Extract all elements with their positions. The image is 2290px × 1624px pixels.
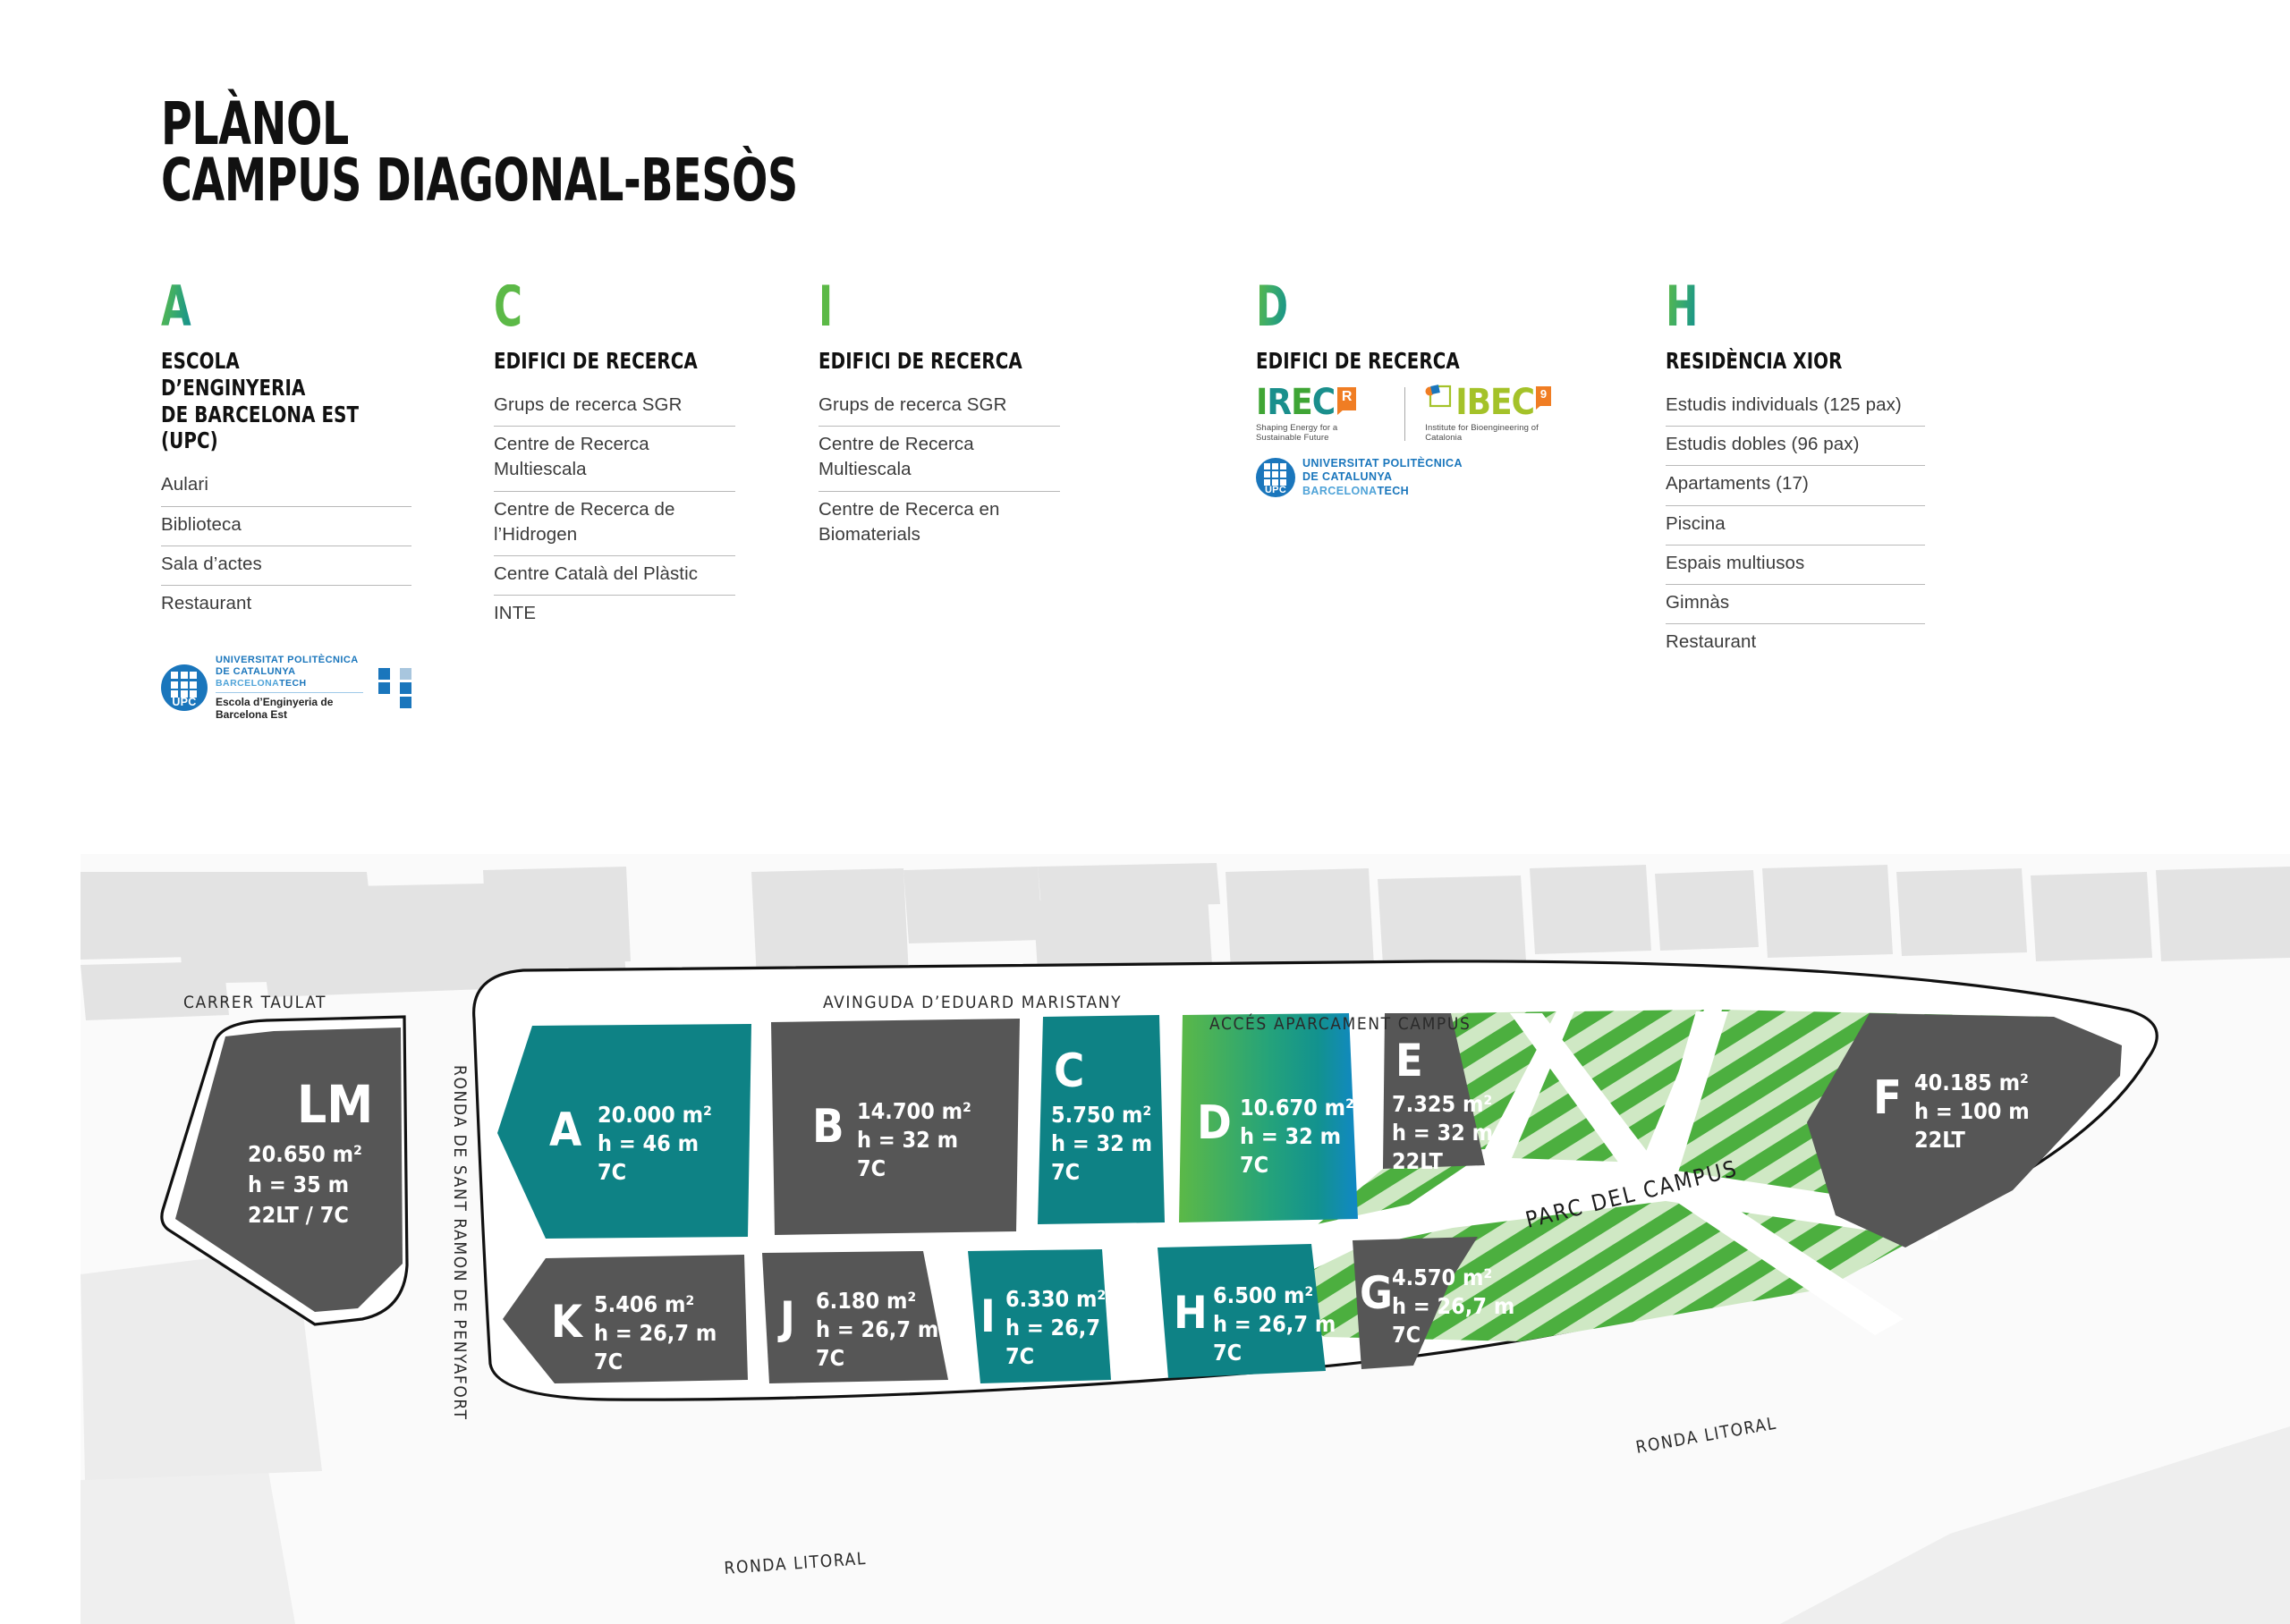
list-item: Grups de recerca SGR <box>494 387 735 427</box>
logo-divider <box>1404 387 1405 441</box>
legend-column-d: D EDIFICI DE RECERCA IREC R Shaping Ener… <box>1256 284 1551 499</box>
block-LM-letter: LM <box>297 1074 373 1135</box>
ibec-tagline: Institute for Bioengineering of Cataloni… <box>1425 423 1551 443</box>
block-F-code: 22LT <box>1914 1127 1965 1153</box>
block-B-code: 7C <box>857 1155 886 1181</box>
list-item: INTE <box>494 596 735 634</box>
block-J-height: h = 26,7 m <box>816 1316 938 1342</box>
ibec-name: IBEC <box>1455 385 1534 419</box>
block-K-area: 5.406 m² <box>594 1291 694 1317</box>
block-H-height: h = 26,7 m <box>1213 1311 1336 1337</box>
irec-badge-icon: R <box>1337 387 1356 410</box>
upc-roundel-icon: UPC <box>1256 458 1295 497</box>
upc-wordmark: UNIVERSITAT POLITÈCNICA DE CATALUNYA BAR… <box>1302 457 1463 499</box>
list-item: Centre de Recerca Multiescala <box>818 427 1060 492</box>
block-LM-area: 20.650 m² <box>248 1141 362 1167</box>
block-I-area: 6.330 m² <box>1005 1286 1106 1312</box>
legend-title-h: RESIDÈNCIA XIOR <box>1666 348 1899 375</box>
irec-name: IREC <box>1256 385 1335 419</box>
street-label-avinguda-maristany: AVINGUDA D’EDUARD MARISTANY <box>823 993 1122 1012</box>
irec-logo: IREC R Shaping Energy for a Sustainable … <box>1256 385 1404 443</box>
block-J-area: 6.180 m² <box>816 1288 916 1314</box>
list-item: Centre de Recerca Multiescala <box>494 427 735 492</box>
title-line-1: PLÀNOL <box>161 97 798 153</box>
block-C-height: h = 32 m <box>1051 1130 1152 1156</box>
list-item: Piscina <box>1666 506 1925 546</box>
legend-title-i: EDIFICI DE RECERCA <box>818 348 1036 375</box>
block-I-code: 7C <box>1005 1343 1034 1369</box>
block-LM-height: h = 35 m <box>248 1171 349 1197</box>
block-F-area: 40.185 m² <box>1914 1070 2029 1095</box>
upc-eebe-logo: UPC UNIVERSITAT POLITÈCNICA DE CATALUNYA… <box>161 655 411 721</box>
upc-line-2: BARCELONATECH <box>216 678 363 689</box>
upc-acronym: UPC <box>1256 485 1295 495</box>
legend-column-i: I EDIFICI DE RECERCA Grups de recerca SG… <box>818 284 1060 555</box>
list-item: Restaurant <box>161 586 411 624</box>
legend-items-a: Aulari Biblioteca Sala d’actes Restauran… <box>161 467 411 624</box>
block-A-code: 7C <box>598 1159 626 1185</box>
block-I-height: h = 26,7 m <box>1005 1315 1128 1341</box>
list-item: Apartaments (17) <box>1666 466 1925 505</box>
list-item: Estudis individuals (125 pax) <box>1666 387 1925 427</box>
irec-tagline: Shaping Energy for a Sustainable Future <box>1256 423 1381 443</box>
upc-logo-d: UPC UNIVERSITAT POLITÈCNICA DE CATALUNYA… <box>1256 457 1551 499</box>
block-F-height: h = 100 m <box>1914 1098 2030 1124</box>
block-K-height: h = 26,7 m <box>594 1320 717 1346</box>
block-B-height: h = 32 m <box>857 1127 958 1153</box>
block-J-letter: J <box>777 1292 795 1344</box>
block-E-height: h = 32 m <box>1392 1120 1493 1146</box>
street-label-carrer-taulat: CARRER TAULAT <box>183 993 327 1012</box>
list-item: Sala d’actes <box>161 546 411 586</box>
block-LM-code: 22LT / 7C <box>248 1202 349 1228</box>
legend-letter-h: H <box>1666 284 1698 330</box>
campus-map: LM 20.650 m² h = 35 m 22LT / 7C <box>0 854 2290 1624</box>
street-label-ronda-penyafort: RONDA DE SANT RAMON DE PENYAFORT <box>450 1065 470 1421</box>
ibec-badge-icon: 9 <box>1536 386 1551 406</box>
eebe-school-name: Escola d’Enginyeria de Barcelona Est <box>216 696 363 721</box>
poster-root: PLÀNOL CAMPUS DIAGONAL-BESÒS A ESCOLA D’… <box>0 0 2290 1624</box>
upc-divider <box>216 692 363 693</box>
list-item: Aulari <box>161 467 411 506</box>
map-context-area-sw <box>81 1471 295 1624</box>
upc-acronym: UPC <box>161 696 208 708</box>
block-B-area: 14.700 m² <box>857 1098 971 1124</box>
upc-line-1: UNIVERSITAT POLITÈCNICA DE CATALUNYA <box>216 655 363 678</box>
list-item: Centre de Recerca de l’Hidrogen <box>494 492 735 557</box>
legend-items-c: Grups de recerca SGR Centre de Recerca M… <box>494 387 735 635</box>
ibec-wordmark: IBEC 9 <box>1425 385 1551 419</box>
block-C-code: 7C <box>1051 1159 1080 1185</box>
upc-line-1: UNIVERSITAT POLITÈCNICA <box>1302 457 1463 471</box>
list-item: Gimnàs <box>1666 585 1925 624</box>
block-D-height: h = 32 m <box>1240 1123 1341 1149</box>
upc-wordmark: UNIVERSITAT POLITÈCNICA DE CATALUNYA BAR… <box>216 655 363 721</box>
block-A-letter: A <box>549 1104 581 1157</box>
block-H-area: 6.500 m² <box>1213 1282 1313 1308</box>
legend-title-c: EDIFICI DE RECERCA <box>494 348 711 375</box>
upc-line-3: BARCELONATECH <box>1302 485 1463 499</box>
legend-letter-c: C <box>494 284 522 330</box>
ibec-logo: IBEC 9 Institute for Bioengineering of C… <box>1425 385 1551 443</box>
block-G-height: h = 26,7 m <box>1392 1293 1514 1319</box>
page-title: PLÀNOL CAMPUS DIAGONAL-BESÒS <box>161 97 957 208</box>
upc-roundel-icon: UPC <box>161 664 208 711</box>
upc-line-2: DE CATALUNYA <box>1302 470 1463 485</box>
legend-column-h: H RESIDÈNCIA XIOR Estudis individuals (1… <box>1666 284 1925 664</box>
legend-title-d: EDIFICI DE RECERCA <box>1256 348 1522 375</box>
irec-wordmark: IREC R <box>1256 385 1381 419</box>
legend-letter-a: A <box>161 284 191 330</box>
list-item: Centre Català del Plàstic <box>494 556 735 596</box>
legend-items-i: Grups de recerca SGR Centre de Recerca M… <box>818 387 1060 555</box>
block-G-area: 4.570 m² <box>1392 1265 1492 1290</box>
legend-letter-i: I <box>818 284 833 330</box>
legend-title-a: ESCOLA D’ENGINYERIA DE BARCELONA EST (UP… <box>161 348 386 455</box>
upc-grid-icon <box>1264 463 1287 486</box>
block-K-letter: K <box>551 1296 584 1348</box>
title-line-2: CAMPUS DIAGONAL-BESÒS <box>161 153 798 209</box>
list-item: Espais multiusos <box>1666 546 1925 585</box>
block-E-area: 7.325 m² <box>1392 1091 1492 1117</box>
legend-letter-d: D <box>1256 284 1288 330</box>
legend-column-c: C EDIFICI DE RECERCA Grups de recerca SG… <box>494 284 735 635</box>
list-item: Estudis dobles (96 pax) <box>1666 427 1925 466</box>
list-item: Centre de Recerca en Biomaterials <box>818 492 1060 556</box>
block-D-area: 10.670 m² <box>1240 1095 1354 1121</box>
block-H-code: 7C <box>1213 1340 1242 1366</box>
block-D-letter: D <box>1197 1096 1232 1150</box>
block-G-letter: G <box>1360 1267 1393 1319</box>
block-C-area: 5.750 m² <box>1051 1102 1151 1128</box>
block-K <box>503 1255 748 1383</box>
street-label-acces-aparcament: ACCÉS APARCAMENT CAMPUS <box>1209 1013 1471 1034</box>
block-A-height: h = 46 m <box>598 1130 699 1156</box>
block-D-code: 7C <box>1240 1152 1268 1178</box>
block-J-code: 7C <box>816 1345 844 1371</box>
block-H-letter: H <box>1174 1287 1208 1339</box>
legend-items-h: Estudis individuals (125 pax) Estudis do… <box>1666 387 1925 664</box>
upc-grid-icon <box>171 672 198 698</box>
list-item: Biblioteca <box>161 507 411 546</box>
block-G-code: 7C <box>1392 1322 1421 1348</box>
list-item: Restaurant <box>1666 624 1925 663</box>
legend-column-a: A ESCOLA D’ENGINYERIA DE BARCELONA EST (… <box>161 284 411 721</box>
block-E-code: 22LT <box>1392 1148 1443 1174</box>
block-F-letter: F <box>1873 1071 1902 1125</box>
research-center-logos: IREC R Shaping Energy for a Sustainable … <box>1256 385 1551 443</box>
block-A-area: 20.000 m² <box>598 1102 712 1128</box>
block-B-letter: B <box>812 1100 844 1154</box>
block-I-letter: I <box>980 1290 996 1342</box>
list-item: Grups de recerca SGR <box>818 387 1060 427</box>
block-E-letter: E <box>1395 1035 1423 1087</box>
eebe-bars-icon <box>378 668 411 708</box>
block-C-letter: C <box>1054 1045 1084 1098</box>
block-K-code: 7C <box>594 1349 623 1374</box>
ibec-square-icon <box>1425 384 1452 410</box>
